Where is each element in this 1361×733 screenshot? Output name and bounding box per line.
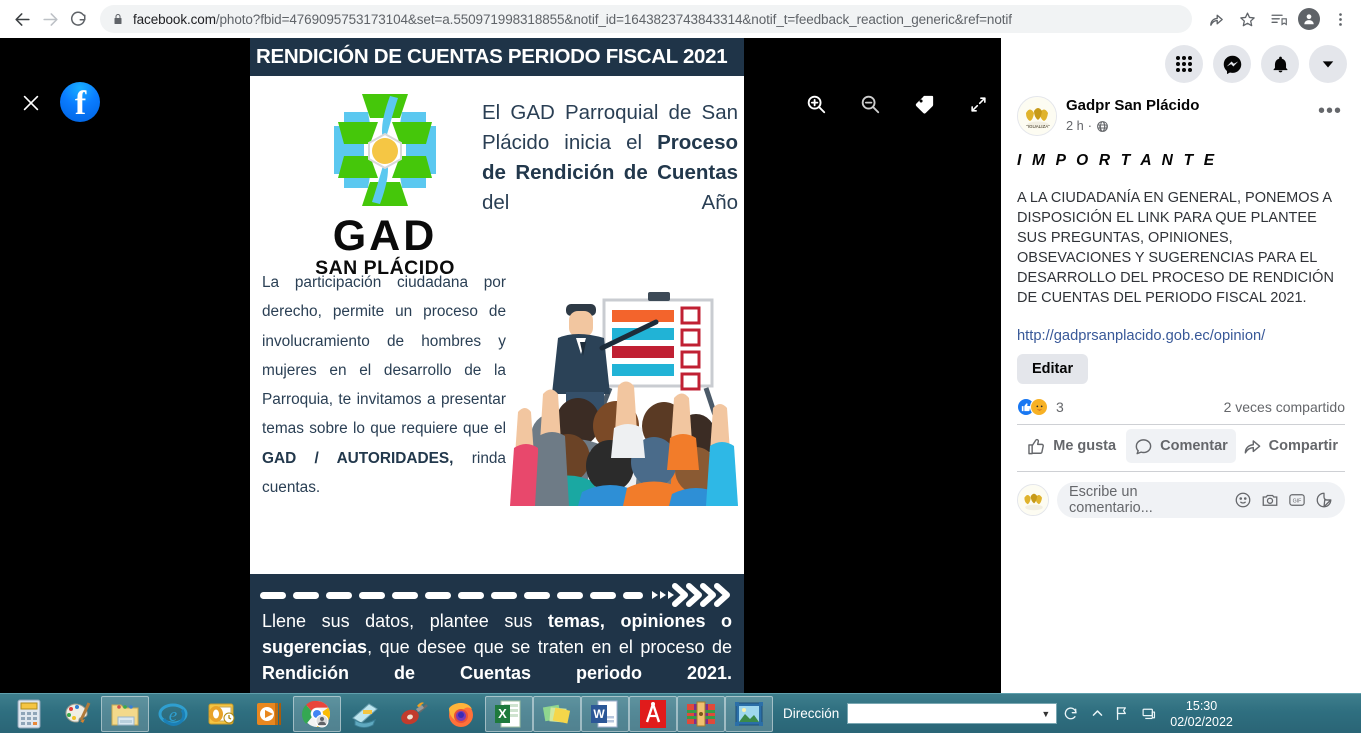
post-body-text: A LA CIUDADANÍA EN GENERAL, PONEMOS A DI… xyxy=(1017,188,1345,308)
poster-footer-band: Llene sus datos, plantee sus temas, opin… xyxy=(250,574,744,693)
zoom-out-icon[interactable] xyxy=(854,88,886,120)
flag-icon[interactable] xyxy=(1114,705,1131,722)
browser-toolbar: facebook.com/photo?fbid=4769095753173104… xyxy=(0,0,1361,38)
three-dot-menu-icon[interactable] xyxy=(1327,6,1353,32)
screen: facebook.com/photo?fbid=4769095753173104… xyxy=(0,0,1361,733)
meeting-illustration xyxy=(506,286,738,506)
share-button-label: Compartir xyxy=(1269,438,1338,454)
apps-grid-icon[interactable] xyxy=(1165,45,1203,83)
gif-icon[interactable]: GIF xyxy=(1288,491,1306,509)
chrome-icon[interactable] xyxy=(293,696,341,732)
headline-part-2: del Año xyxy=(482,191,738,214)
media-player-icon[interactable] xyxy=(245,695,293,733)
post-author-block: Gadpr San Plácido 2 h · xyxy=(1066,96,1315,135)
zoom-in-icon[interactable] xyxy=(800,88,832,120)
back-arrow-icon[interactable] xyxy=(8,5,36,33)
file-explorer-icon[interactable] xyxy=(101,696,149,732)
emoji-icon[interactable] xyxy=(1234,491,1252,509)
profile-avatar-icon[interactable] xyxy=(1296,6,1322,32)
fullscreen-icon[interactable] xyxy=(962,88,994,120)
svg-text:"IGUALIZA": "IGUALIZA" xyxy=(1026,124,1050,129)
chevron-down-icon[interactable]: ▼ xyxy=(1038,709,1053,719)
winrar-icon[interactable] xyxy=(677,696,725,732)
paragraph-end: cuentas. xyxy=(262,473,506,502)
refresh-icon[interactable] xyxy=(1063,706,1079,722)
reload-icon[interactable] xyxy=(64,5,92,33)
notifications-bell-icon[interactable] xyxy=(1261,45,1299,83)
reaction-count: 3 xyxy=(1056,399,1064,415)
post-author-name[interactable]: Gadpr San Plácido xyxy=(1066,96,1315,115)
gad-logo: GAD SAN PLÁCIDO xyxy=(290,88,480,279)
messenger-icon[interactable] xyxy=(1213,45,1251,83)
clock-date: 02/02/2022 xyxy=(1170,714,1233,730)
post-header: "IGUALIZA" Gadpr San Plácido 2 h · xyxy=(1017,90,1345,136)
comment-composer: Escribe un comentario... GIF xyxy=(1017,471,1345,518)
calculator-icon[interactable] xyxy=(5,695,53,733)
url-host: facebook.com xyxy=(133,12,216,27)
address-toolbar-input[interactable]: ▼ xyxy=(847,703,1057,724)
facebook-header-actions xyxy=(1001,38,1361,90)
internet-explorer-icon[interactable]: e xyxy=(149,695,197,733)
poster-body: GAD SAN PLÁCIDO El GAD Parroquial de San… xyxy=(250,76,744,574)
edit-button[interactable]: Editar xyxy=(1017,354,1088,384)
gad-logo-word: GAD xyxy=(290,215,480,257)
footer-bold-2: Rendición de Cuentas periodo 2021. xyxy=(262,663,732,683)
poster-paragraph: La participación ciudadana por derecho, … xyxy=(262,268,506,502)
post-actions: Me gusta Comentar Compartir xyxy=(1017,424,1345,467)
word-icon[interactable]: W xyxy=(581,696,629,732)
comment-placeholder: Escribe un comentario... xyxy=(1069,484,1225,516)
scanner-icon[interactable] xyxy=(341,695,389,733)
share-button[interactable]: Compartir xyxy=(1236,429,1345,463)
facebook-logo-icon[interactable]: f xyxy=(60,82,100,122)
reaction-icons xyxy=(1017,398,1048,416)
sticker-icon[interactable] xyxy=(1315,491,1333,509)
like-button-label: Me gusta xyxy=(1053,438,1116,454)
account-chevron-icon[interactable] xyxy=(1309,45,1347,83)
show-hidden-icons[interactable] xyxy=(1091,707,1104,720)
svg-text:X: X xyxy=(498,706,507,721)
excel-icon[interactable]: X xyxy=(485,696,533,732)
autocad-icon[interactable] xyxy=(629,696,677,732)
reading-list-icon[interactable] xyxy=(1265,6,1291,32)
paragraph-part-1: La participación ciudadana por derecho, … xyxy=(262,274,506,437)
separator-dot: · xyxy=(1088,117,1092,135)
url-path: /photo?fbid=4769095753173104&set=a.55097… xyxy=(216,12,1012,27)
taskbar-clock[interactable]: 15:30 02/02/2022 xyxy=(1170,698,1245,730)
comment-bubble-icon xyxy=(1134,437,1153,456)
poster-footer-text: Llene sus datos, plantee sus temas, opin… xyxy=(260,608,734,686)
photo-gallery-icon[interactable] xyxy=(533,696,581,732)
footer-part-1: Llene sus datos, plantee sus xyxy=(262,611,548,631)
browser-action-icons xyxy=(1198,6,1353,32)
star-icon[interactable] xyxy=(1234,6,1260,32)
forward-arrow-icon[interactable] xyxy=(36,5,64,33)
share-icon[interactable] xyxy=(1203,6,1229,32)
avatar[interactable]: "IGUALIZA" xyxy=(1017,96,1057,136)
post-stats: 3 2 veces compartido xyxy=(1017,398,1345,424)
footer-part-2: , que desee que se traten en el proceso … xyxy=(367,637,732,657)
network-icon[interactable] xyxy=(1141,705,1158,722)
thumbs-up-icon xyxy=(1027,437,1046,456)
nero-icon[interactable] xyxy=(389,695,437,733)
chevron-arrows-icon xyxy=(652,582,732,608)
post-container: "IGUALIZA" Gadpr San Plácido 2 h · xyxy=(1001,90,1361,518)
poster-header-text: RENDICIÓN DE CUENTAS PERIODO FISCAL 2021 xyxy=(256,45,727,69)
composer-avatar[interactable] xyxy=(1017,484,1049,516)
share-arrow-icon xyxy=(1243,437,1262,456)
system-tray xyxy=(1091,705,1158,722)
paint-icon[interactable] xyxy=(53,695,101,733)
dashed-arrow-decoration xyxy=(260,582,734,608)
share-count[interactable]: 2 veces compartido xyxy=(1224,399,1345,415)
post-menu-icon[interactable]: ••• xyxy=(1315,96,1345,126)
like-button[interactable]: Me gusta xyxy=(1017,429,1126,463)
poster-header-band: RENDICIÓN DE CUENTAS PERIODO FISCAL 2021 xyxy=(250,38,744,76)
url-text: facebook.com/photo?fbid=4769095753173104… xyxy=(133,12,1012,27)
address-bar[interactable]: facebook.com/photo?fbid=4769095753173104… xyxy=(100,5,1192,33)
comment-input[interactable]: Escribe un comentario... GIF xyxy=(1057,482,1345,518)
facebook-photo-viewer: f RENDICIÓN DE CUENTAS PER xyxy=(0,38,1361,693)
care-reaction-icon xyxy=(1030,398,1048,416)
svg-text:e: e xyxy=(169,705,177,726)
windows-taskbar: e X W xyxy=(0,693,1361,733)
facebook-logo-letter: f xyxy=(75,86,85,122)
post-title: I M P O R T A N T E xyxy=(1017,152,1345,170)
firefox-icon[interactable] xyxy=(437,695,485,733)
outlook-icon[interactable] xyxy=(197,695,245,733)
clock-time: 15:30 xyxy=(1170,698,1233,714)
address-toolbar-label: Dirección xyxy=(783,706,839,721)
image-viewer-icon[interactable] xyxy=(725,696,773,732)
post-timestamp-row: 2 h · xyxy=(1066,117,1315,135)
post-timestamp[interactable]: 2 h xyxy=(1066,117,1084,135)
paragraph-part-2: rinda xyxy=(453,450,506,467)
reactions-group[interactable]: 3 xyxy=(1017,398,1064,416)
poster-image[interactable]: RENDICIÓN DE CUENTAS PERIODO FISCAL 2021 xyxy=(250,38,744,693)
camera-icon[interactable] xyxy=(1261,491,1279,509)
photo-toolbar xyxy=(800,88,994,120)
gad-emblem-icon xyxy=(310,88,460,213)
post-link[interactable]: http://gadprsanplacido.gob.ec/opinion/ xyxy=(1017,326,1345,346)
poster-headline: El GAD Parroquial de San Plácido inicia … xyxy=(482,98,738,218)
post-sidebar: "IGUALIZA" Gadpr San Plácido 2 h · xyxy=(1001,38,1361,693)
tag-icon[interactable] xyxy=(908,88,940,120)
svg-text:W: W xyxy=(593,707,605,721)
photo-stage: f RENDICIÓN DE CUENTAS PER xyxy=(0,38,1001,693)
comment-button-label: Comentar xyxy=(1160,438,1228,454)
paragraph-bold: GAD / AUTORIDADES, xyxy=(262,450,453,467)
comment-button[interactable]: Comentar xyxy=(1126,429,1235,463)
globe-icon xyxy=(1096,120,1109,133)
close-icon[interactable] xyxy=(16,88,46,118)
svg-text:GIF: GIF xyxy=(1293,498,1302,504)
lock-icon xyxy=(112,12,124,26)
